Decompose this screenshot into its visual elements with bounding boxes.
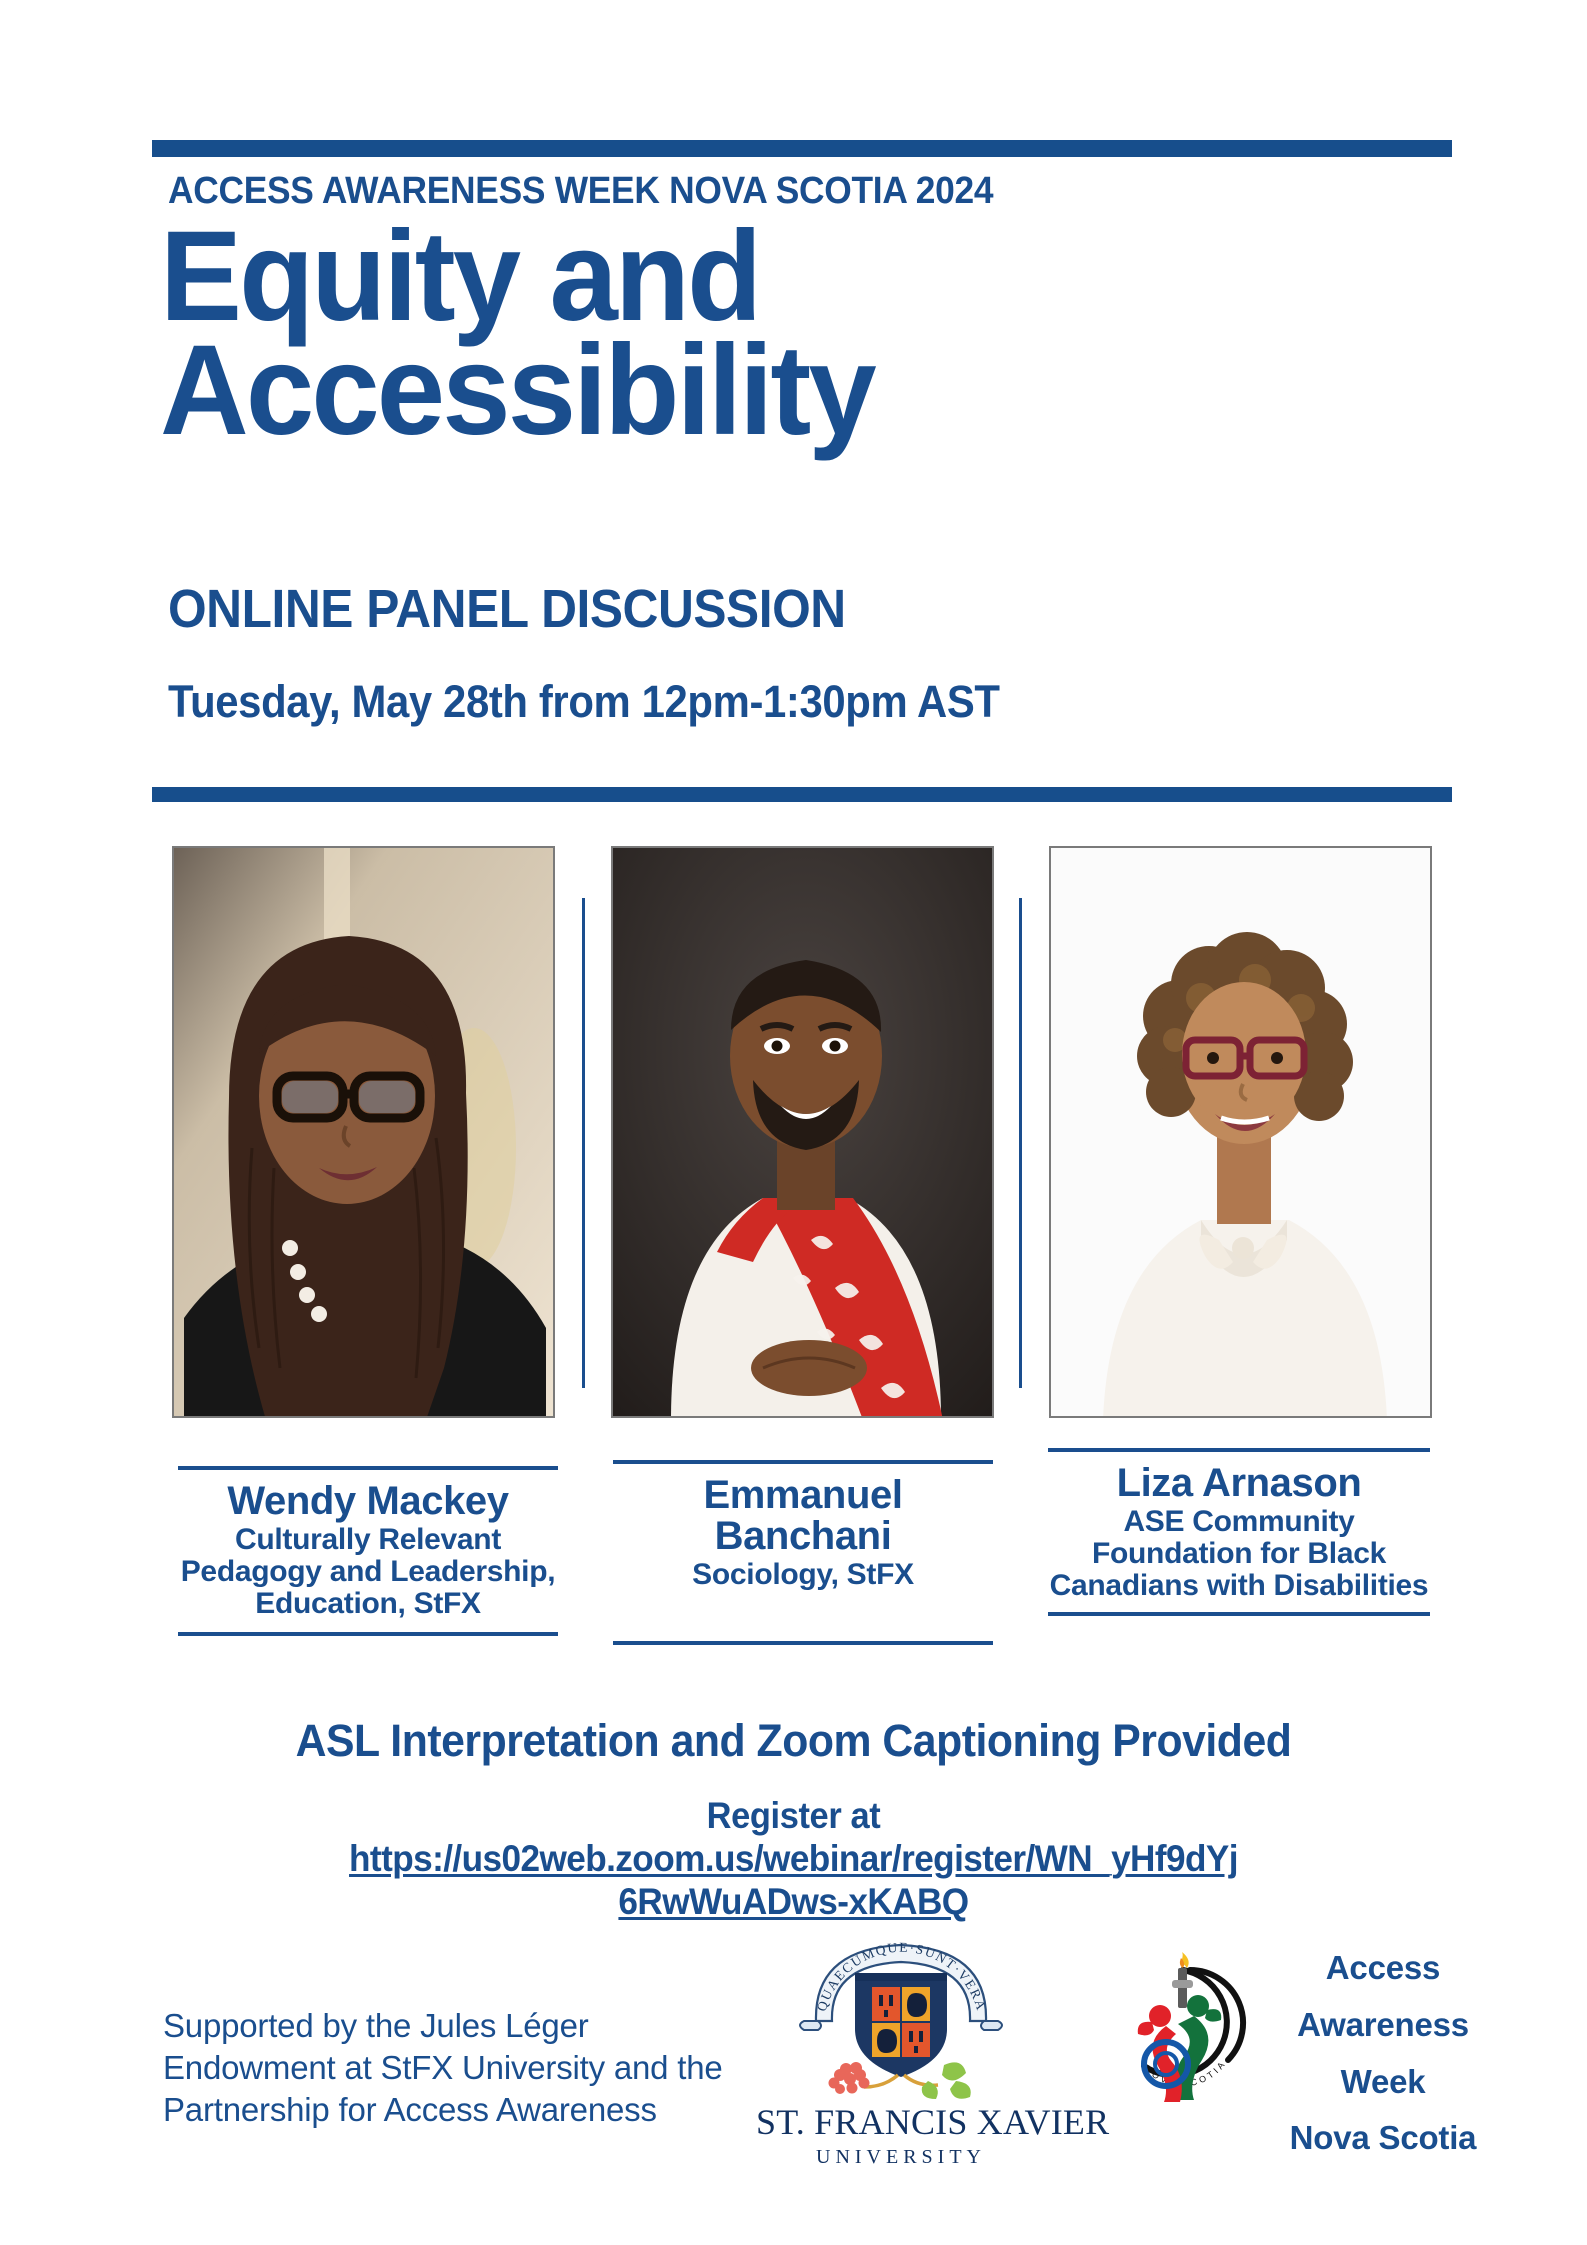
aaw-line-1: Access [1258,1940,1508,1997]
stfx-crest-icon: QUAECUMQUE·SUNT·VERA [794,1925,1009,2100]
panelist-name-1: Wendy Mackey [178,1481,558,1522]
panelist-block-1: Wendy Mackey Culturally Relevant Pedagog… [178,1466,558,1636]
stfx-logo-name: ST. FRANCIS XAVIER [756,2104,1046,2140]
panelist-photo-2 [611,846,994,1418]
access-awareness-week-logo: NOVA SCOTIA [1108,1948,1258,2108]
stfx-logo-subtitle: UNIVERSITY [756,2146,1046,2169]
panelist-rule-top-3 [1048,1448,1430,1452]
panelist-rule-bottom-1 [178,1632,558,1636]
page-title: Equity and Accessibility [160,222,1420,446]
support-credit-text: Supported by the Jules Léger Endowment a… [163,2005,763,2132]
registration-url-line-2[interactable]: 6RwWuADws-xKABQ [40,1880,1548,1923]
panelist-block-3: Liza Arnason ASE Community Foundation fo… [1048,1448,1430,1616]
portrait-illustration-1 [174,848,555,1418]
registration-block: Register at https://us02web.zoom.us/webi… [0,1795,1587,1924]
photo-divider-2 [1019,898,1022,1388]
top-divider-bar [152,140,1452,157]
portrait-illustration-3 [1051,848,1432,1418]
panelist-affiliation-1: Culturally Relevant Pedagogy and Leaders… [178,1524,558,1620]
panelist-block-2: Emmanuel Banchani Sociology, StFX [613,1460,993,1645]
panelist-rule-bottom-3 [1048,1612,1430,1616]
title-line-1: Equity and [160,222,1370,332]
aaw-emblem-icon: NOVA SCOTIA [1108,1948,1258,2108]
photo-divider-1 [582,898,585,1388]
portrait-illustration-2 [613,848,994,1418]
poster-root: ACCESS AWARENESS WEEK NOVA SCOTIA 2024 E… [0,0,1587,2245]
panelist-name-2: Emmanuel Banchani [613,1475,993,1557]
panelist-rule-top-2 [613,1460,993,1464]
aaw-line-4: Nova Scotia [1258,2110,1508,2167]
aaw-line-3: Week [1258,2054,1508,2111]
accessibility-note: ASL Interpretation and Zoom Captioning P… [40,1715,1548,1767]
title-line-2: Accessibility [160,336,1370,446]
register-lead: Register at [56,1795,1532,1837]
mid-divider-bar [152,787,1452,802]
panelist-rule-top-1 [178,1466,558,1470]
panelist-photo-3 [1049,846,1432,1418]
registration-url-line-1[interactable]: https://us02web.zoom.us/webinar/register… [40,1837,1548,1880]
event-subhead: ONLINE PANEL DISCUSSION [168,578,846,640]
access-awareness-week-wordmark: Access Awareness Week Nova Scotia [1258,1940,1508,2167]
aaw-line-2: Awareness [1258,1997,1508,2054]
panelist-affiliation-2: Sociology, StFX [613,1559,993,1591]
panelist-rule-bottom-2 [613,1641,993,1645]
panelist-photo-row [152,846,1452,1466]
panelist-photo-1 [172,846,555,1418]
panelist-affiliation-3: ASE Community Foundation for Black Canad… [1048,1506,1430,1602]
event-datetime: Tuesday, May 28th from 12pm-1:30pm AST [168,676,1000,728]
stfx-university-logo: QUAECUMQUE·SUNT·VERA [756,1925,1046,2185]
panelist-name-3: Liza Arnason [1048,1463,1430,1504]
panelist-name-row: Wendy Mackey Culturally Relevant Pedagog… [152,1466,1452,1696]
